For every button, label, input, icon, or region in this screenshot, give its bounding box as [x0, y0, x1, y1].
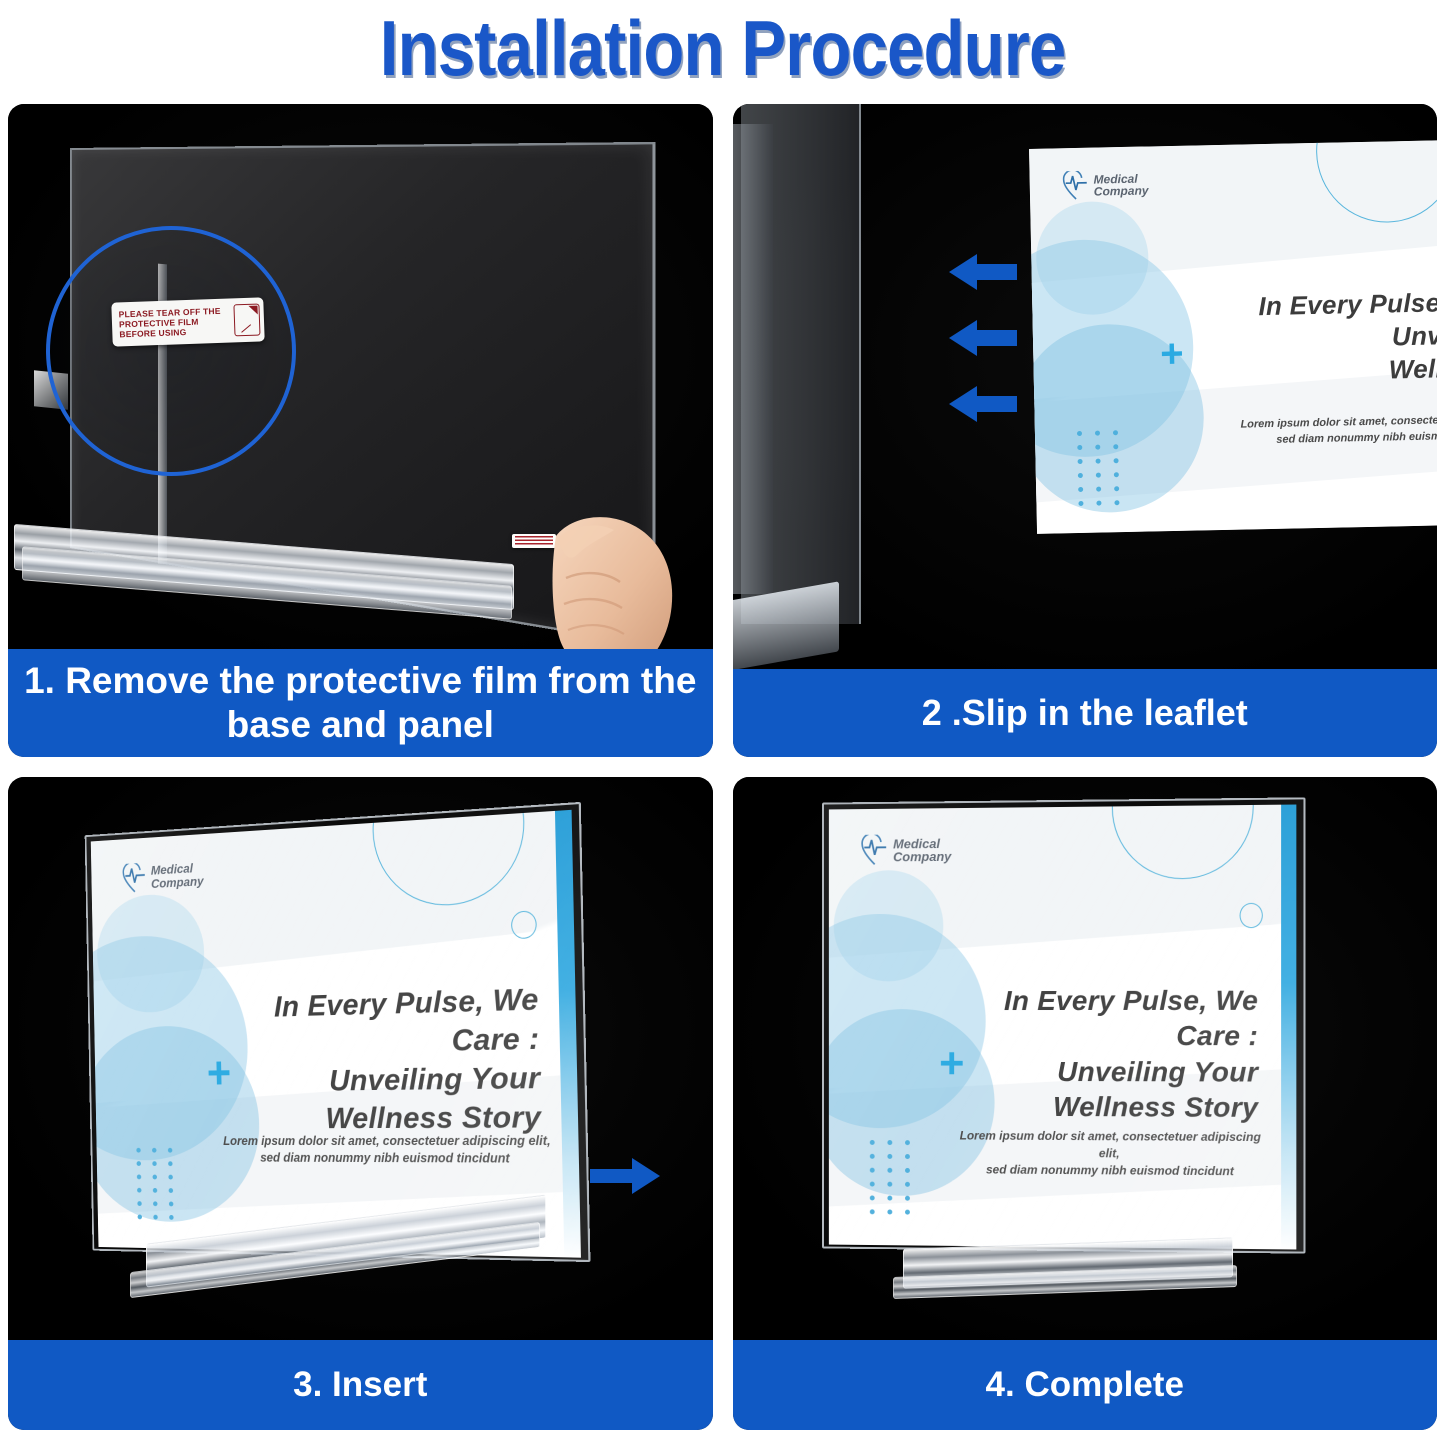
leaflet-headline: In Every Pulse, We Care : Unveiling Your…: [228, 981, 541, 1138]
peel-corner-icon: [233, 303, 260, 336]
step-4-image: Medical Company + In Every Pulse, We Car…: [733, 777, 1438, 1340]
tear-off-sticker-text: PLEASE TEAR OFF THE PROTECTIVE FILM BEFO…: [119, 305, 232, 339]
leaflet-dot: [887, 1182, 892, 1187]
step-3-caption: 3. Insert: [8, 1340, 713, 1430]
heartbeat-pin-icon: [122, 862, 147, 894]
leaflet-in-holder: Medical Company + In Every Pulse, We Car…: [91, 810, 581, 1258]
page-title: Installation Procedure: [380, 3, 1066, 94]
insert-arrow-right: [588, 1155, 662, 1197]
leaflet-body-line-2: sed diam nonummy nibh euismod tincidunt: [953, 1161, 1268, 1180]
leaflet-dot: [1113, 458, 1118, 463]
leaflet-body-text: Lorem ipsum dolor sit amet, consectetuer…: [953, 1128, 1268, 1180]
installation-procedure-page: Installation Procedure PLEASE TEAR OFF T…: [0, 0, 1445, 1436]
leaflet-dot: [169, 1215, 174, 1220]
leaflet-dot: [870, 1154, 875, 1159]
callout-circle: [46, 226, 296, 476]
leaflet-dot: [1096, 473, 1101, 478]
leaflet-logo: Medical Company: [1062, 170, 1148, 202]
leaflet-dot: [870, 1168, 875, 1173]
leaflet-dot-grid: [136, 1148, 177, 1220]
leaflet-dot: [870, 1140, 875, 1145]
leaflet-dot: [1077, 431, 1082, 436]
leaflet-dot: [905, 1182, 910, 1187]
leaflet-dot: [152, 1161, 156, 1166]
leaflet-dot: [1113, 444, 1118, 449]
leaflet-headline-line-1: In Every Pulse, We Care :: [228, 981, 540, 1064]
page-title-bar: Installation Procedure: [0, 0, 1445, 96]
heartbeat-pin-icon: [860, 835, 887, 867]
hand-pulling-film: [544, 508, 676, 649]
leaflet-dot: [137, 1214, 141, 1219]
tear-off-sticker: PLEASE TEAR OFF THE PROTECTIVE FILM BEFO…: [111, 297, 264, 346]
leaflet-dot: [169, 1201, 174, 1206]
leaflet-body-line-1: Lorem ipsum dolor sit amet, consectetuer…: [222, 1132, 552, 1150]
leaflet-dot: [169, 1188, 174, 1193]
acrylic-stand-edge: [733, 124, 773, 594]
leaflet-dot: [152, 1175, 156, 1180]
step-2-image: Medical Company + In Every Pulse, We Car…: [733, 104, 1438, 669]
leaflet-dot: [887, 1154, 892, 1159]
leaflet-logo-text: Medical Company: [893, 837, 951, 865]
leaflet-dot: [153, 1188, 157, 1193]
leaflet-dot: [137, 1201, 141, 1206]
leaflet-dot: [905, 1210, 910, 1215]
leaflet-dot: [137, 1174, 141, 1179]
leaflet-logo-text: Medical Company: [1093, 172, 1148, 198]
leaflet-body-line-1: Lorem ipsum dolor sit amet, consectetuer…: [953, 1128, 1268, 1163]
leaflet-dot: [887, 1140, 892, 1145]
leaflet-dot: [905, 1168, 910, 1173]
leaflet-headline-line-2: Unveiling Your: [962, 1053, 1258, 1089]
leaflet-dot: [1114, 472, 1119, 477]
leaflet-accent-stripe: [1281, 805, 1296, 1250]
leaflet-headline: In Every Pulse, We Care : Unveiling Your…: [962, 983, 1258, 1125]
leaflet-dot: [905, 1140, 910, 1145]
leaflet-dot: [153, 1201, 157, 1206]
leaflet-dot: [168, 1161, 173, 1166]
sign-holder-angled: Medical Company + In Every Pulse, We Car…: [91, 810, 581, 1258]
leaflet-dot: [1077, 445, 1082, 450]
leaflet-dot: [870, 1196, 875, 1201]
step-1-caption: 1. Remove the protective film from the b…: [8, 649, 713, 757]
leaflet-headline-line-3: Wellness Story: [962, 1089, 1258, 1125]
steps-grid: PLEASE TEAR OFF THE PROTECTIVE FILM BEFO…: [8, 104, 1437, 1430]
leaflet-dot: [1078, 487, 1083, 492]
leaflet-logo-line2: Company: [1093, 185, 1148, 199]
leaflet-dot: [905, 1154, 910, 1159]
leaflet-dot: [168, 1148, 173, 1153]
step-panel-3: Medical Company + In Every Pulse, We Car…: [8, 777, 713, 1430]
leaflet-headline-line-1: In Every Pulse, We Care :: [962, 983, 1258, 1054]
leaflet-logo-text: Medical Company: [151, 861, 204, 890]
leaflet-logo: Medical Company: [122, 859, 204, 894]
leaflet-sliding-in: Medical Company + In Every Pulse, We Car…: [1029, 139, 1437, 534]
leaflet-plus-icon: +: [1159, 338, 1194, 373]
step-1-image: PLEASE TEAR OFF THE PROTECTIVE FILM BEFO…: [8, 104, 713, 649]
leaflet-dot: [1113, 430, 1118, 435]
step-3-caption-text: 3. Insert: [293, 1364, 427, 1405]
leaflet-dot: [136, 1161, 140, 1166]
step-2-caption-text: 2 .Slip in the leaflet: [922, 692, 1248, 734]
step-panel-1: PLEASE TEAR OFF THE PROTECTIVE FILM BEFO…: [8, 104, 713, 757]
leaflet-dot: [153, 1215, 157, 1220]
leaflet-dot: [1078, 473, 1083, 478]
insert-arrow-left-2: [947, 318, 1019, 358]
leaflet-dot: [1096, 487, 1101, 492]
leaflet-logo-line2: Company: [893, 850, 951, 864]
leaflet-dot: [1096, 501, 1101, 506]
leaflet-dot: [1114, 486, 1119, 491]
leaflet-dot-grid: [1077, 430, 1124, 506]
leaflet-dot: [870, 1210, 875, 1215]
leaflet-dot: [137, 1188, 141, 1193]
step-2-caption: 2 .Slip in the leaflet: [733, 669, 1438, 757]
leaflet-dot: [1095, 431, 1100, 436]
leaflet-body-text: Lorem ipsum dolor sit amet, consectetuer…: [222, 1132, 553, 1168]
insert-arrow-left-1: [947, 252, 1019, 292]
leaflet-dot: [1095, 445, 1100, 450]
leaflet-dot: [1077, 459, 1082, 464]
leaflet-headline: In Every Pulse, We Care : Unveiling Your…: [1191, 284, 1437, 390]
leaflet-dot: [1114, 500, 1119, 505]
leaflet-dot: [905, 1196, 910, 1201]
leaflet-in-holder: Medical Company + In Every Pulse, We Car…: [828, 805, 1295, 1250]
leaflet-dot: [887, 1196, 892, 1201]
step-1-caption-text: 1. Remove the protective film from the b…: [22, 659, 699, 746]
leaflet-ring-small: [1239, 903, 1263, 929]
leaflet-body-line-2: sed diam nonummy nibh euismod tincidunt: [222, 1150, 552, 1169]
step-panel-4: Medical Company + In Every Pulse, We Car…: [733, 777, 1438, 1430]
leaflet-dot: [887, 1210, 892, 1215]
leaflet-dot: [152, 1148, 156, 1153]
leaflet-dot: [887, 1168, 892, 1173]
leaflet-dot: [1095, 459, 1100, 464]
leaflet-dot: [870, 1182, 875, 1187]
step-4-caption-text: 4. Complete: [986, 1364, 1184, 1405]
leaflet-dot: [1078, 501, 1083, 506]
step-3-image: Medical Company + In Every Pulse, We Car…: [8, 777, 713, 1340]
leaflet-logo: Medical Company: [860, 834, 950, 867]
insert-arrow-left-3: [947, 384, 1019, 424]
sign-holder-complete: Medical Company + In Every Pulse, We Car…: [828, 805, 1295, 1250]
leaflet-headline-line-2: Unveiling Your: [230, 1059, 541, 1101]
step-panel-2: Medical Company + In Every Pulse, We Car…: [733, 104, 1438, 757]
leaflet-dot-grid: [870, 1140, 914, 1215]
leaflet-logo-line2: Company: [151, 874, 204, 890]
leaflet-dot: [168, 1175, 173, 1180]
leaflet-dot: [136, 1148, 140, 1153]
heartbeat-pin-icon: [1062, 171, 1089, 202]
step-4-caption: 4. Complete: [733, 1340, 1438, 1430]
